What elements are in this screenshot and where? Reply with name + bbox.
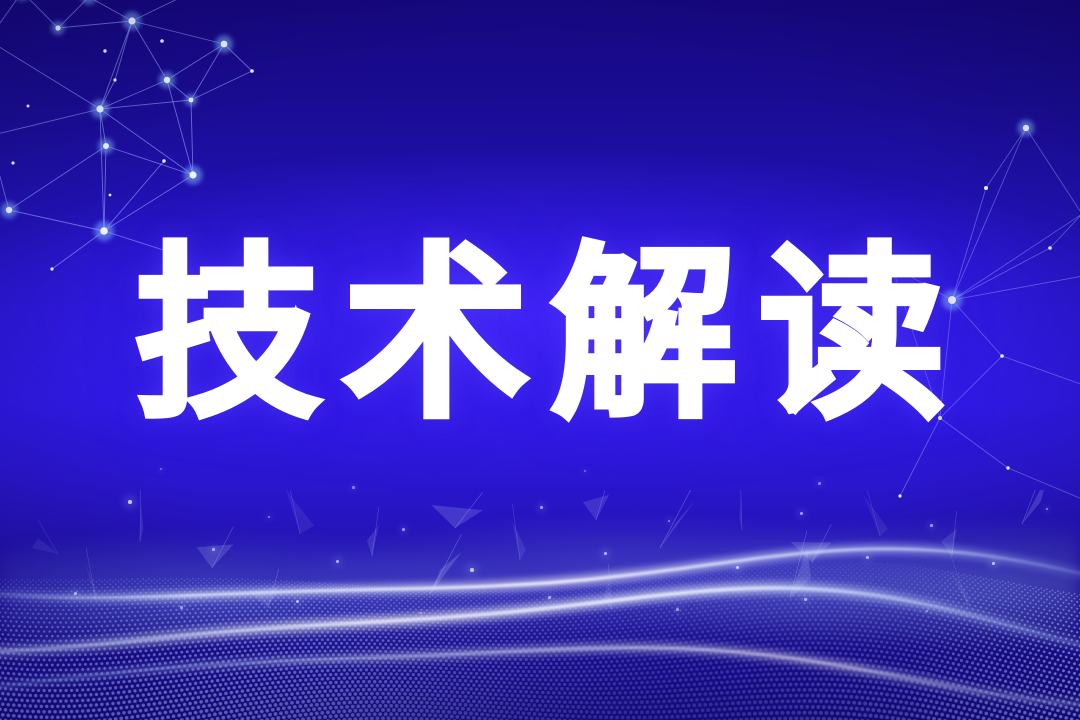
spark-dot [540,506,543,509]
spark-dot [402,528,405,531]
spark-dot [352,486,355,489]
spark-dot [818,482,821,485]
particle-wave-field [0,490,1080,720]
spark-dot [470,568,474,572]
spark-dot [930,524,933,527]
spark-dot [676,608,679,611]
page-title: 技术解读 [0,243,1080,429]
spark-dot [866,556,869,559]
spark-dot [180,606,183,609]
spark-dot [548,596,551,599]
spark-dot [800,512,803,515]
spark-dot [74,592,77,595]
spark-dot [212,548,215,551]
poster-canvas: 技术解读 [0,0,1080,720]
wave-depth-shade [0,600,1080,720]
spark-dot [128,500,132,504]
